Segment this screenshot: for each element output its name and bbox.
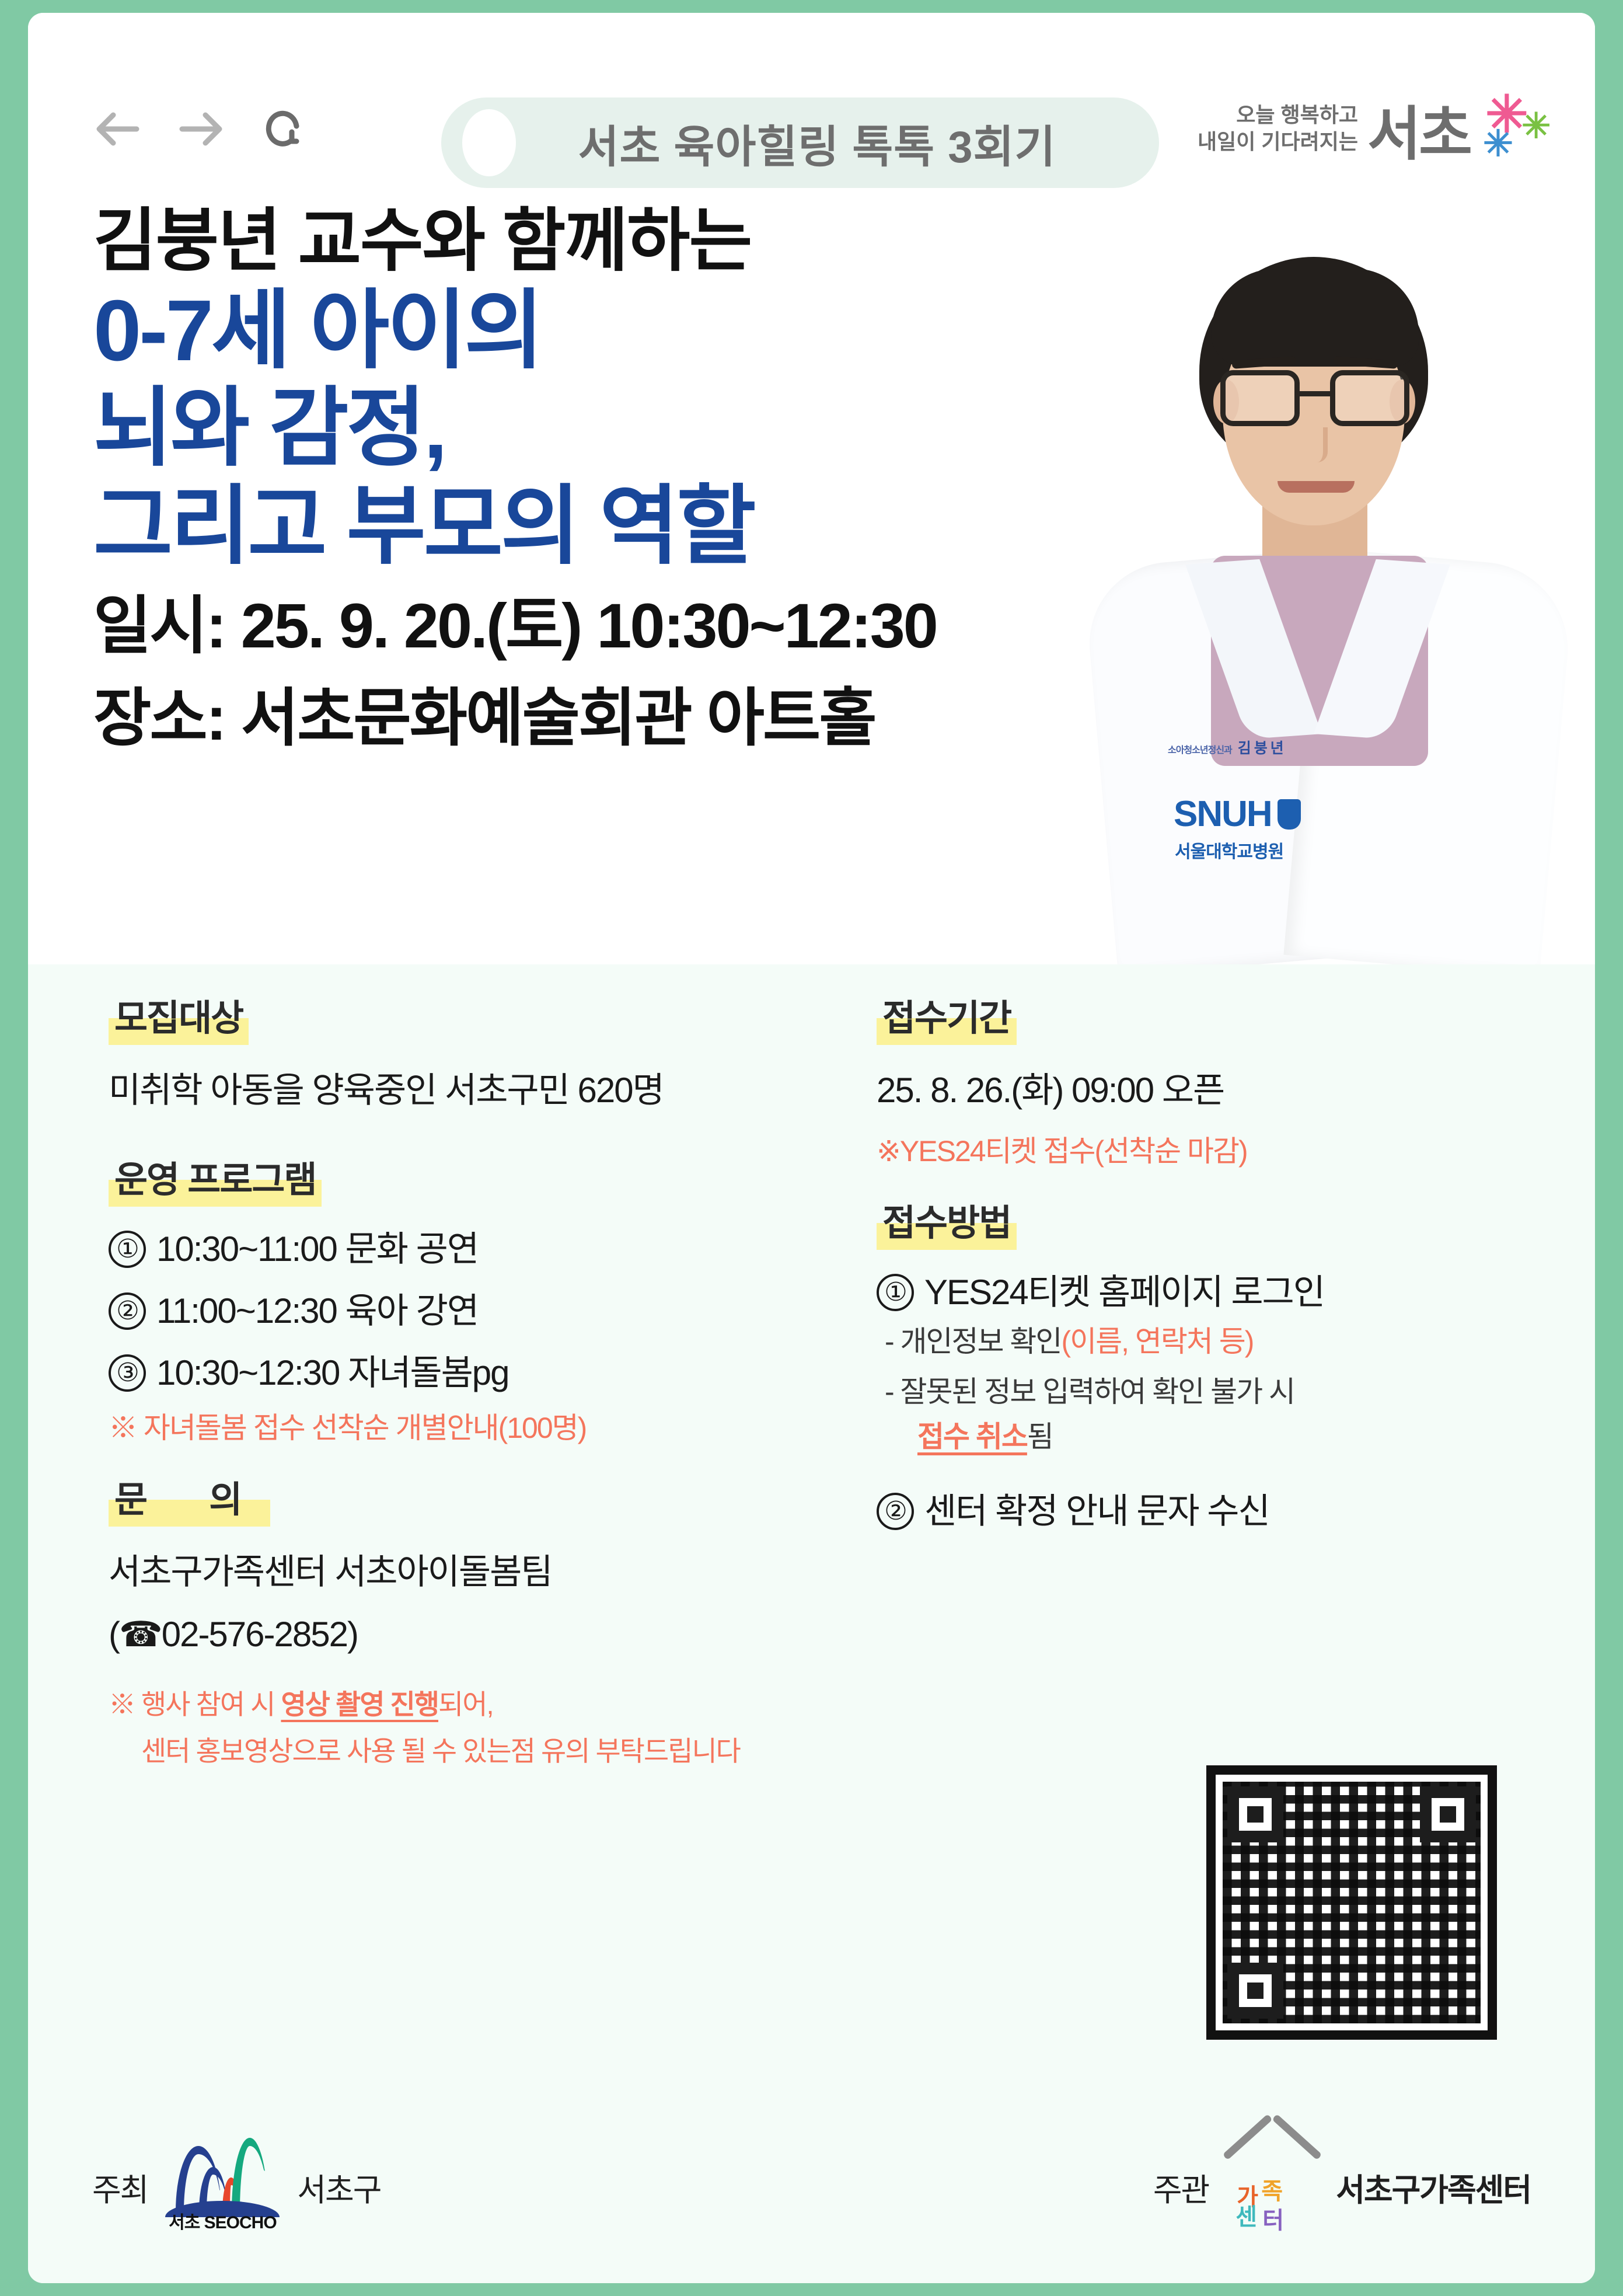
seocho-gu-logo-icon: 서초 SEOCHO <box>165 2144 280 2231</box>
method-step-1-number: ① <box>877 1274 914 1311</box>
seocho-logo-caption: 서초 SEOCHO <box>165 2208 280 2234</box>
hospital-mark-text: SNUH <box>1174 796 1272 832</box>
method-step-3-text: 센터 확정 안내 문자 수신 <box>924 1492 1269 1531</box>
qr-finder-top-left <box>1227 1786 1283 1842</box>
qr-code[interactable] <box>1206 1765 1497 2040</box>
method-step-1-sub: - 개인정보 확인(이름, 연락처 등) <box>877 1322 1595 1362</box>
inquiry-phone[interactable]: (☎02-576-2852) <box>109 1609 863 1660</box>
coat-name-tag-name: 김 붕 년 <box>1238 740 1283 757</box>
method-heading: 접수방법 <box>877 1202 1017 1250</box>
poster-card: 서초 육아힐링 톡톡 3회기 오늘 행복하고 내일이 기다려지는 서초 ✳ ✳ … <box>28 13 1595 2283</box>
inquiry-org: 서초구가족센터 서초아이돌봄팀 <box>109 1546 863 1597</box>
period-heading: 접수기간 <box>877 997 1017 1045</box>
host-block: 주최 서초 SEOCHO 서초구 <box>92 2144 381 2231</box>
eyeglasses-icon <box>1220 370 1409 426</box>
hero-line4: 그리고 부모의 역할 <box>93 478 937 575</box>
hero-venue: 장소: 서초문화예술회관 아트홀 <box>93 677 937 760</box>
program-item-text: 10:30~11:00 문화 공연 <box>156 1230 478 1269</box>
hero-text-block: 김붕년 교수와 함께하는 0-7세 아이의 뇌와 감정, 그리고 부모의 역할 … <box>93 201 937 760</box>
program-item-text: 11:00~12:30 육아 강연 <box>156 1292 478 1330</box>
family-center-logo-icon: 가 족 센 터 <box>1224 2147 1321 2228</box>
coat-name-tag-dept: 소아청소년정신과 <box>1168 745 1232 755</box>
method-step-3-number: ② <box>877 1493 914 1530</box>
method-step-2-result: 접수 취소됨 <box>877 1417 1595 1457</box>
browser-nav-controls <box>92 106 306 152</box>
brand-mark-text: 서초 <box>1367 107 1470 162</box>
program-item: ③ 10:30~12:30 자녀돌봄pg <box>109 1354 863 1392</box>
brand-stars: ✳ ✳ ✳ <box>1479 92 1544 162</box>
period-text: 25. 8. 26.(화) 09:00 오픈 <box>877 1065 1595 1116</box>
filming-note-line2: 센터 홍보영상으로 사용 될 수 있는점 유의 부탁드립니다 <box>109 1732 863 1771</box>
hospital-logo: SNUH <box>1174 796 1301 832</box>
program-item-number: ② <box>109 1292 146 1330</box>
method-step-1: ① YES24티켓 홈페이지 로그인 <box>877 1273 1595 1312</box>
hero-datetime: 일시: 25. 9. 20.(토) 10:30~12:30 <box>93 584 937 668</box>
brand-slogan: 오늘 행복하고 내일이 기다려지는 <box>1198 102 1358 162</box>
hospital-name-kr: 서울대학교병원 <box>1175 837 1283 863</box>
qr-finder-bottom-left <box>1227 1963 1283 2019</box>
method-step-1-text: YES24티켓 홈페이지 로그인 <box>924 1273 1324 1312</box>
site-avatar-icon <box>462 109 516 176</box>
target-text: 미취학 아동을 양육중인 서초구민 620명 <box>109 1065 863 1116</box>
method-step-2-suffix: 됨 <box>1027 1420 1053 1453</box>
filming-note-prefix: ※ 행사 참여 시 <box>109 1689 281 1720</box>
brand-slogan-line1: 오늘 행복하고 <box>1198 102 1358 128</box>
method-step-2-emphasis: 접수 취소 <box>917 1420 1027 1453</box>
filming-note-line1: ※ 행사 참여 시 영상 촬영 진행되어, <box>109 1685 863 1724</box>
host-name: 서초구 <box>297 2164 381 2210</box>
program-note: ※ 자녀돌봄 접수 선착순 개별안내(100명) <box>109 1407 863 1448</box>
method-step-3: ② 센터 확정 안내 문자 수신 <box>877 1492 1595 1531</box>
hero-section: 소아청소년정신과김 붕 년 SNUH 서울대학교병원 김붕년 교수와 함께하는 … <box>28 188 1595 964</box>
program-item: ① 10:30~11:00 문화 공연 <box>109 1230 863 1269</box>
details-left-column: 모집대상 미취학 아동을 양육중인 서초구민 620명 운영 프로그램 ① 10… <box>28 997 863 2114</box>
hero-line2: 0-7세 아이의 <box>93 282 937 379</box>
reload-icon[interactable] <box>260 106 306 152</box>
method-step-1-sub-emphasis: (이름, 연락처 등) <box>1061 1325 1253 1358</box>
fc-logo-char-d: 터 <box>1262 2201 1283 2235</box>
program-item-number: ① <box>109 1231 146 1268</box>
method-step-1-sub-prefix: - 개인정보 확인 <box>885 1325 1061 1358</box>
inquiry-heading: 문 의 <box>109 1479 270 1527</box>
fc-logo-char-c: 센 <box>1235 2198 1256 2232</box>
hero-line1: 김붕년 교수와 함께하는 <box>93 201 937 282</box>
coat-name-tag: 소아청소년정신과김 붕 년 <box>1168 737 1283 758</box>
period-note: ※YES24티켓 접수(선착순 마감) <box>877 1131 1595 1172</box>
organizer-block: 주관 가 족 센 터 서초구가족센터 <box>1153 2147 1531 2228</box>
host-label: 주최 <box>92 2164 148 2210</box>
program-item: ② 11:00~12:30 육아 강연 <box>109 1292 863 1330</box>
program-item-text: 10:30~12:30 자녀돌봄pg <box>156 1354 509 1392</box>
speaker-photo: 소아청소년정신과김 붕 년 SNUH 서울대학교병원 <box>1070 188 1595 964</box>
browser-header: 서초 육아힐링 톡톡 3회기 오늘 행복하고 내일이 기다려지는 서초 ✳ ✳ … <box>28 13 1595 188</box>
target-heading: 모집대상 <box>109 997 249 1045</box>
hospital-shield-icon <box>1278 799 1301 830</box>
method-step-2-sub: - 잘못된 정보 입력하여 확인 불가 시 <box>877 1372 1595 1412</box>
program-heading: 운영 프로그램 <box>109 1159 322 1207</box>
seocho-brand-logo: 오늘 행복하고 내일이 기다려지는 서초 ✳ ✳ ✳ <box>1198 92 1544 162</box>
brand-slogan-line2: 내일이 기다려지는 <box>1198 128 1358 155</box>
star-green-icon: ✳ <box>1521 109 1551 144</box>
filming-note-suffix: 되어, <box>438 1689 493 1720</box>
address-bar-title: 서초 육아힐링 톡톡 3회기 <box>516 111 1159 175</box>
organizer-name: 서초구가족센터 <box>1336 2164 1531 2210</box>
star-blue-icon: ✳ <box>1483 126 1513 162</box>
details-section: 모집대상 미취학 아동을 양육중인 서초구민 620명 운영 프로그램 ① 10… <box>28 964 1595 2114</box>
filming-note-emphasis: 영상 촬영 진행 <box>281 1689 438 1720</box>
address-bar[interactable]: 서초 육아힐링 톡톡 3회기 <box>441 97 1159 188</box>
arrow-right-icon[interactable] <box>176 108 226 150</box>
qr-finder-top-right <box>1420 1786 1476 1842</box>
arrow-left-icon[interactable] <box>92 108 142 150</box>
poster-footer: 주최 서초 SEOCHO 서초구 주관 가 족 센 터 서초구가족센터 <box>28 2114 1595 2283</box>
program-item-number: ③ <box>109 1354 146 1392</box>
hero-line3: 뇌와 감정, <box>93 379 937 477</box>
organizer-label: 주관 <box>1153 2164 1209 2210</box>
